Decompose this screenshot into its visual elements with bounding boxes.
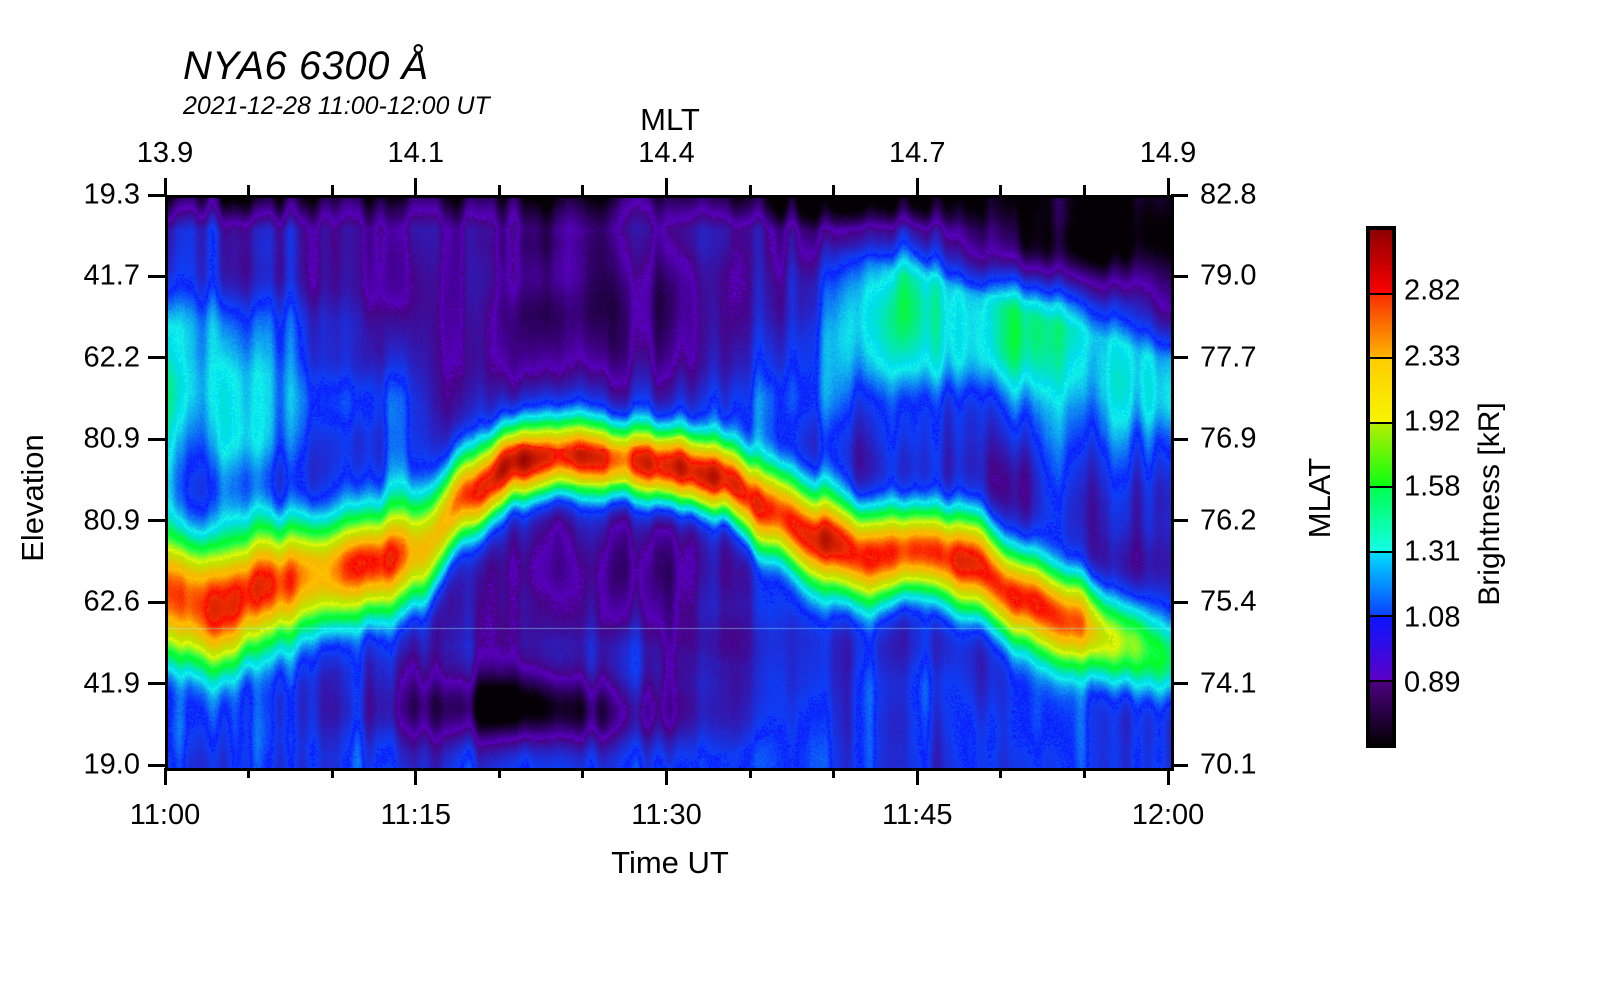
mlt-tick-label: 14.4 <box>638 137 694 170</box>
left-axis-label: Elevation <box>15 358 51 638</box>
colorbar-segment <box>1370 617 1392 682</box>
x-minor-tick <box>331 768 334 778</box>
x-major-tick <box>414 768 417 785</box>
elev-tick-label: 41.7 <box>5 260 140 293</box>
mlt-minor-tick <box>247 185 250 195</box>
bottom-axis-label: Time UT <box>0 845 1340 881</box>
elev-tick <box>148 601 165 604</box>
x-major-tick <box>1167 768 1170 785</box>
x-tick-label: 12:00 <box>1132 799 1205 832</box>
mlt-major-tick <box>916 178 919 195</box>
top-axis-label: MLT <box>0 102 1340 138</box>
mlt-minor-tick <box>331 185 334 195</box>
mlt-major-tick <box>164 178 167 195</box>
mlt-tick-label: 14.9 <box>1140 137 1196 170</box>
mlt-minor-tick <box>498 185 501 195</box>
colorbar-segment <box>1370 682 1392 745</box>
mlt-minor-tick <box>999 185 1002 195</box>
colorbar-segment <box>1370 295 1392 360</box>
mlt-minor-tick <box>581 185 584 195</box>
x-major-tick <box>164 768 167 785</box>
colorbar-tick-label: 0.89 <box>1404 666 1460 699</box>
elev-tick-label: 19.0 <box>5 749 140 782</box>
x-minor-tick <box>832 768 835 778</box>
x-tick-label: 11:45 <box>882 799 952 832</box>
mlt-tick-label: 14.1 <box>388 137 444 170</box>
x-tick-label: 11:00 <box>130 799 200 832</box>
plot-title: NYA6 6300 Å <box>183 44 429 89</box>
x-tick-label: 11:30 <box>631 799 701 832</box>
colorbar-tick-label: 1.08 <box>1404 601 1460 634</box>
keogram-figure: NYA6 6300 Å 2021-12-28 11:00-12:00 UT ML… <box>0 0 1600 1000</box>
colorbar-tick-label: 1.31 <box>1404 536 1460 569</box>
mlat-tick <box>1171 356 1188 359</box>
x-minor-tick <box>498 768 501 778</box>
mlt-major-tick <box>414 178 417 195</box>
mlat-tick-label: 70.1 <box>1200 749 1330 782</box>
mlt-tick-label: 14.7 <box>889 137 945 170</box>
x-minor-tick <box>999 768 1002 778</box>
elev-tick <box>148 519 165 522</box>
mlat-tick-label: 82.8 <box>1200 179 1330 212</box>
x-minor-tick <box>247 768 250 778</box>
colorbar-segment <box>1370 230 1392 295</box>
right-axis-label: MLAT <box>1302 358 1338 638</box>
colorbar-tick-label: 2.82 <box>1404 275 1460 308</box>
colorbar-segment <box>1370 424 1392 489</box>
mlat-tick <box>1171 601 1188 604</box>
elev-tick <box>148 682 165 685</box>
x-minor-tick <box>1083 768 1086 778</box>
colorbar-tick-label: 1.58 <box>1404 471 1460 504</box>
x-minor-tick <box>749 768 752 778</box>
mlat-tick <box>1171 519 1188 522</box>
keogram-plot-area <box>165 195 1174 771</box>
colorbar <box>1366 226 1396 748</box>
elev-tick <box>148 764 165 767</box>
colorbar-label: Brightness [kR] <box>1473 354 1507 654</box>
elev-tick-label: 19.3 <box>5 179 140 212</box>
elev-tick <box>148 438 165 441</box>
x-major-tick <box>665 768 668 785</box>
colorbar-tick-label: 1.92 <box>1404 405 1460 438</box>
x-minor-tick <box>581 768 584 778</box>
mlt-major-tick <box>665 178 668 195</box>
colorbar-segment <box>1370 553 1392 618</box>
mlt-minor-tick <box>749 185 752 195</box>
mlat-tick <box>1171 764 1188 767</box>
elev-tick <box>148 194 165 197</box>
keogram-image <box>168 198 1171 768</box>
mlat-tick <box>1171 194 1188 197</box>
mlat-tick-label: 74.1 <box>1200 667 1330 700</box>
mlt-minor-tick <box>1083 185 1086 195</box>
mlat-tick <box>1171 275 1188 278</box>
colorbar-tick-label: 2.33 <box>1404 340 1460 373</box>
elev-tick-label: 41.9 <box>5 667 140 700</box>
mlt-major-tick <box>1167 178 1170 195</box>
elev-tick <box>148 356 165 359</box>
mlat-tick <box>1171 682 1188 685</box>
colorbar-segment <box>1370 488 1392 553</box>
mlat-tick <box>1171 438 1188 441</box>
x-major-tick <box>916 768 919 785</box>
mlat-tick-label: 79.0 <box>1200 260 1330 293</box>
x-tick-label: 11:15 <box>381 799 451 832</box>
elev-tick <box>148 275 165 278</box>
colorbar-segment <box>1370 359 1392 424</box>
mlt-tick-label: 13.9 <box>137 137 193 170</box>
mlt-minor-tick <box>832 185 835 195</box>
